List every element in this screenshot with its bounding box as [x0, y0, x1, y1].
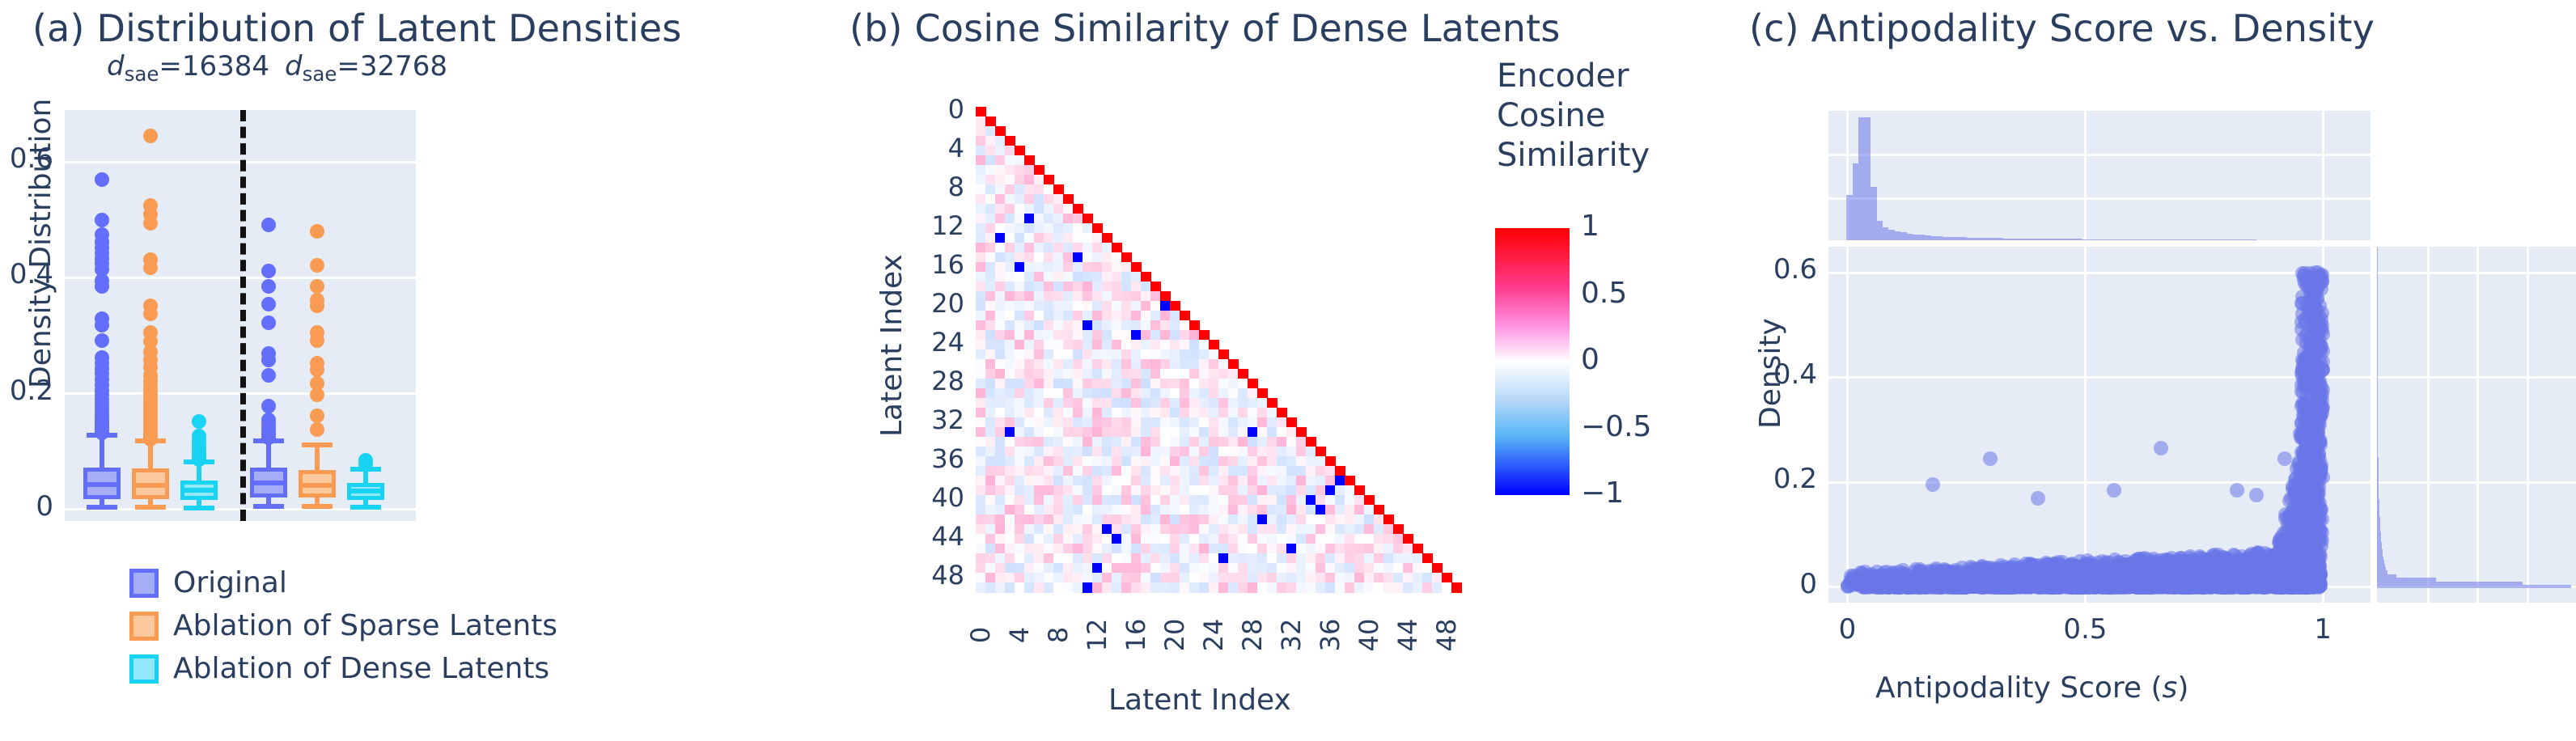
heatmap-cell	[1209, 534, 1219, 544]
heatmap-cell	[1015, 427, 1025, 438]
heatmap-cell	[1432, 573, 1443, 583]
histogram-bar	[2202, 239, 2208, 240]
heatmap-cell	[1277, 514, 1287, 525]
heatmap-cell	[976, 476, 986, 486]
median-line	[250, 481, 287, 485]
heatmap-cell	[1024, 582, 1035, 593]
heatmap-cell	[1238, 427, 1248, 438]
heatmap-cell	[1180, 340, 1190, 350]
heatmap-cell	[1102, 485, 1112, 496]
heatmap-cell	[1015, 194, 1025, 205]
heatmap-cell	[976, 359, 986, 370]
heatmap-cell	[1112, 544, 1122, 554]
panel-b: (b) Cosine Similarity of Dense Latents L…	[858, 0, 1739, 741]
heatmap-cell	[1121, 282, 1132, 292]
heatmap-cell	[1228, 563, 1239, 574]
heatmap-cell	[1141, 282, 1151, 292]
heatmap-cell	[1073, 408, 1083, 418]
heatmap-cell	[1238, 582, 1248, 593]
heatmap-cell	[985, 243, 996, 253]
heatmap-cell	[1073, 311, 1083, 321]
heatmap-cell	[1053, 553, 1064, 564]
heatmap-cell	[1131, 495, 1142, 506]
heatmap-cell	[1005, 466, 1015, 476]
heatmap-cell	[1218, 495, 1229, 506]
panel-c: (c) Antipodality Score vs. Density Densi…	[1739, 0, 2576, 741]
heatmap-cell	[1238, 398, 1248, 409]
heatmap-cell	[1063, 379, 1074, 389]
heatmap-cell	[985, 194, 996, 205]
heatmap-cell	[1053, 340, 1064, 350]
colorbar-title: EncoderCosineSimilarity	[1497, 57, 1650, 175]
heatmap-cell	[995, 534, 1006, 544]
heatmap-cell	[1180, 427, 1190, 438]
outlier-point	[95, 333, 109, 348]
heatmap-cell	[1335, 524, 1345, 535]
heatmap-cell	[1316, 553, 1326, 564]
heatmap-cell	[1141, 476, 1151, 486]
heatmap-cell	[1209, 379, 1219, 389]
heatmap-cell	[985, 563, 996, 574]
heatmap-cell	[1277, 456, 1287, 467]
heatmap-cell	[1131, 340, 1142, 350]
heatmap-cell	[1325, 466, 1336, 476]
heatmap-cell	[1238, 476, 1248, 486]
heatmap-cell	[1063, 311, 1074, 321]
heatmap-cell	[1189, 427, 1200, 438]
heatmap-cell	[1053, 262, 1064, 273]
heatmap-cell	[1199, 447, 1210, 457]
heatmap-cell	[1228, 456, 1239, 467]
heatmap-cell	[1189, 359, 1200, 370]
heatmap-cell	[1063, 272, 1074, 282]
heatmap-cell	[995, 349, 1006, 360]
heatmap-cell	[1024, 408, 1035, 418]
heatmap-cell	[1063, 427, 1074, 438]
heatmap-cell	[1209, 427, 1219, 438]
heatmap-cell	[1063, 544, 1074, 554]
heatmap-cell	[1112, 447, 1122, 457]
heatmap-cell	[1199, 388, 1210, 399]
heatmap-cell	[976, 495, 986, 506]
heatmap-cell	[1306, 573, 1316, 583]
heatmap-cell	[1160, 485, 1171, 496]
heatmap-cell	[976, 233, 986, 243]
heatmap-cell	[1141, 388, 1151, 399]
heatmap-cell	[1092, 252, 1103, 263]
heatmap-cell	[1277, 582, 1287, 593]
heatmap-cell	[1015, 388, 1025, 399]
heatmap-cell	[1102, 417, 1112, 428]
heatmap-cell	[985, 262, 996, 273]
heatmap-cell	[1112, 563, 1122, 574]
heatmap-cell	[1024, 534, 1035, 544]
heatmap-cell	[985, 485, 996, 496]
heatmap-cell	[1005, 301, 1015, 311]
heatmap-cell	[1296, 485, 1307, 496]
heatmap-cell	[1180, 563, 1190, 574]
heatmap-cell	[1228, 495, 1239, 506]
heatmap-cell	[1121, 456, 1132, 467]
heatmap-cell	[1345, 476, 1355, 486]
heatmap-cell	[976, 447, 986, 457]
median-line	[180, 488, 218, 493]
heatmap-cell	[976, 340, 986, 350]
heatmap-cell	[1180, 320, 1190, 331]
heatmap-cell	[1199, 485, 1210, 496]
heatmap-cell	[1257, 495, 1268, 506]
heatmap-cell	[1296, 456, 1307, 467]
heatmap-cell	[1024, 214, 1035, 224]
heatmap-cell	[1277, 563, 1287, 574]
heatmap-cell	[976, 184, 986, 195]
heatmap-cell	[1015, 272, 1025, 282]
heatmap-cell	[1325, 573, 1336, 583]
heatmap-cell	[1228, 437, 1239, 447]
heatmap-cell	[995, 194, 1006, 205]
heatmap-cell	[1092, 398, 1103, 409]
heatmap-cell	[1015, 466, 1025, 476]
heatmap-cell	[1073, 272, 1083, 282]
heatmap-cell	[1199, 398, 1210, 409]
heatmap-cell	[1015, 184, 1025, 195]
colorbar-gradient	[1495, 228, 1570, 495]
heatmap-cell	[1248, 563, 1258, 574]
heatmap-cell	[1044, 582, 1054, 593]
heatmap-cell	[1073, 340, 1083, 350]
heatmap-cell	[1083, 388, 1093, 399]
heatmap-cell	[1015, 146, 1025, 156]
heatmap-cell	[1092, 359, 1103, 370]
outlier-point	[310, 422, 324, 437]
histogram-bar	[1961, 237, 1967, 240]
heatmap-cell	[976, 252, 986, 263]
heatmap-cell	[985, 165, 996, 176]
heatmap-cell	[1092, 311, 1103, 321]
heatmap-cell	[1112, 291, 1122, 302]
xtick-label: 40	[1354, 619, 1384, 652]
heatmap-cell	[1102, 291, 1112, 302]
heatmap-cell	[1005, 553, 1015, 564]
heatmap-cell	[976, 456, 986, 467]
heatmap-cell	[995, 505, 1006, 515]
heatmap-cell	[1121, 417, 1132, 428]
heatmap-cell	[1063, 204, 1074, 214]
heatmap-cell	[1131, 544, 1142, 554]
heatmap-cell	[1306, 524, 1316, 535]
heatmap-cell	[1121, 301, 1132, 311]
heatmap-cell	[1024, 495, 1035, 506]
heatmap-cell	[1257, 466, 1268, 476]
heatmap-cell	[995, 514, 1006, 525]
heatmap-cell	[1335, 544, 1345, 554]
heatmap-cell	[1141, 437, 1151, 447]
heatmap-cell	[1170, 495, 1180, 506]
heatmap-cell	[985, 553, 996, 564]
xtick-label: 4	[1004, 627, 1035, 643]
heatmap-cell	[1228, 476, 1239, 486]
heatmap-cell	[1277, 524, 1287, 535]
gridline-x	[1846, 247, 1849, 603]
heatmap-cell	[1092, 427, 1103, 438]
heatmap-cell	[1170, 437, 1180, 447]
heatmap-cell	[1024, 398, 1035, 409]
histogram-bar	[2196, 239, 2201, 240]
heatmap-cell	[1034, 272, 1044, 282]
heatmap-cell	[1034, 369, 1044, 379]
heatmap-cell	[1180, 359, 1190, 370]
scatter-point	[2073, 578, 2087, 593]
heatmap-cell	[995, 126, 1006, 137]
outlier-point	[95, 213, 109, 227]
heatmap-cell	[1131, 359, 1142, 370]
heatmap-cell	[1160, 369, 1171, 379]
ytick-label: 0.2	[10, 375, 53, 407]
heatmap-cell	[1024, 282, 1035, 292]
heatmap-cell	[1024, 165, 1035, 176]
heatmap-cell	[1160, 349, 1171, 360]
outlier-point	[261, 353, 276, 367]
heatmap-cell	[1024, 262, 1035, 273]
heatmap-cell	[1248, 437, 1258, 447]
heatmap-cell	[1034, 417, 1044, 428]
heatmap-cell	[1160, 417, 1171, 428]
heatmap-cell	[985, 214, 996, 224]
heatmap-cell	[1015, 320, 1025, 331]
heatmap-cell	[1112, 359, 1122, 370]
heatmap-cell	[1364, 582, 1375, 593]
heatmap-cell	[1131, 505, 1142, 515]
heatmap-cell	[1102, 233, 1112, 243]
heatmap-cell	[1345, 563, 1355, 574]
histogram-bar	[1871, 187, 1876, 240]
heatmap-cell	[1248, 573, 1258, 583]
heatmap-cell	[1141, 466, 1151, 476]
heatmap-cell	[1034, 194, 1044, 205]
heatmap-cell	[1345, 553, 1355, 564]
heatmap-cell	[1150, 573, 1161, 583]
heatmap-cell	[1131, 524, 1142, 535]
heatmap-cell	[1257, 476, 1268, 486]
heatmap-cell	[1170, 573, 1180, 583]
heatmap-cell	[1364, 495, 1375, 506]
heatmap-cell	[1063, 194, 1074, 205]
histogram-bar	[1883, 227, 1888, 240]
heatmap-cell	[1024, 243, 1035, 253]
scatter-point	[2211, 555, 2226, 570]
heatmap-cell	[1112, 582, 1122, 593]
heatmap-cell	[1112, 252, 1122, 263]
heatmap-cell	[1180, 476, 1190, 486]
ytick-label: 8	[948, 171, 964, 202]
heatmap-cell	[1063, 301, 1074, 311]
heatmap-cell	[1053, 427, 1064, 438]
heatmap-cell	[1063, 476, 1074, 486]
heatmap-cell	[1296, 524, 1307, 535]
heatmap-cell	[1209, 495, 1219, 506]
histogram-bar	[2082, 239, 2087, 240]
heatmap-cell	[1335, 534, 1345, 544]
heatmap-cell	[1092, 417, 1103, 428]
heatmap-cell	[1092, 282, 1103, 292]
heatmap-cell	[1131, 311, 1142, 321]
colorbar-tick-label: 1	[1581, 210, 1599, 243]
median-line	[347, 489, 384, 493]
heatmap-cell	[1102, 524, 1112, 535]
heatmap-cell	[1160, 437, 1171, 447]
heatmap-cell	[1170, 388, 1180, 399]
heatmap-cell	[1199, 330, 1210, 341]
heatmap-cell	[1034, 204, 1044, 214]
heatmap-cell	[1403, 582, 1413, 593]
heatmap-cell	[976, 408, 986, 418]
outlier-point	[143, 216, 158, 231]
heatmap-cell	[1073, 330, 1083, 341]
xtick-label: 28	[1237, 619, 1268, 652]
heatmap-cell	[1238, 553, 1248, 564]
outlier-point	[95, 172, 109, 187]
heatmap-cell	[1034, 544, 1044, 554]
heatmap-cell	[1034, 301, 1044, 311]
heatmap-cell	[1034, 252, 1044, 263]
heatmap-cell	[1092, 388, 1103, 399]
heatmap-cell	[1073, 291, 1083, 302]
heatmap-cell	[976, 427, 986, 438]
colorbar-tick-label: 0.5	[1581, 277, 1627, 310]
heatmap-cell	[976, 582, 986, 593]
xtick-label: 24	[1198, 619, 1229, 652]
heatmap-cell	[1053, 437, 1064, 447]
heatmap-cell	[995, 398, 1006, 409]
heatmap-cell	[1092, 524, 1103, 535]
heatmap-cell	[1257, 485, 1268, 496]
heatmap-cell	[1160, 398, 1171, 409]
heatmap-cell	[1102, 573, 1112, 583]
heatmap-cell	[1053, 534, 1064, 544]
heatmap-cell	[1005, 524, 1015, 535]
heatmap-cell	[1015, 573, 1025, 583]
heatmap-cell	[1306, 582, 1316, 593]
heatmap-cell	[1170, 340, 1180, 350]
xtick-label: 12	[1082, 619, 1112, 652]
heatmap-cell	[1209, 447, 1219, 457]
heatmap-cell	[1277, 553, 1287, 564]
heatmap-cell	[1073, 262, 1083, 273]
heatmap-cell	[1053, 514, 1064, 525]
heatmap-cell	[1121, 311, 1132, 321]
heatmap-cell	[1354, 573, 1365, 583]
heatmap-cell	[1150, 311, 1161, 321]
heatmap-cell	[1102, 369, 1112, 379]
heatmap-cell	[1102, 388, 1112, 399]
heatmap-cell	[1286, 514, 1297, 525]
heatmap-cell	[1063, 524, 1074, 535]
heatmap-cell	[1306, 437, 1316, 447]
heatmap-cell	[1383, 534, 1394, 544]
heatmap-cell	[976, 437, 986, 447]
heatmap-cell	[976, 194, 986, 205]
heatmap-cell	[1034, 447, 1044, 457]
heatmap-cell	[976, 165, 986, 176]
heatmap-cell	[985, 233, 996, 243]
heatmap-cell	[1199, 505, 1210, 515]
heatmap-cell	[1073, 417, 1083, 428]
heatmap-cell	[1024, 340, 1035, 350]
histogram-bar	[2184, 239, 2189, 240]
heatmap-cell	[1286, 417, 1297, 428]
whisker-cap-lower	[87, 505, 118, 510]
heatmap-cell	[1063, 320, 1074, 331]
heatmap-cell	[1005, 359, 1015, 370]
legend-item-2: Ablation of Dense Latents	[129, 652, 557, 685]
ytick-label: 4	[948, 133, 964, 163]
heatmap-cell	[1005, 214, 1015, 224]
heatmap-cell	[1150, 505, 1161, 515]
heatmap-cell	[1150, 340, 1161, 350]
heatmap-cell	[1112, 388, 1122, 399]
heatmap-cell	[1306, 534, 1316, 544]
heatmap-cell	[1180, 485, 1190, 496]
group-label-32768-value: =32768	[337, 50, 447, 83]
legend-label: Original	[173, 566, 287, 599]
heatmap-cell	[985, 505, 996, 515]
heatmap-cell	[1034, 282, 1044, 292]
heatmap-cell	[1034, 534, 1044, 544]
heatmap-cell	[1383, 524, 1394, 535]
heatmap-cell	[1257, 514, 1268, 525]
heatmap-cell	[1248, 544, 1258, 554]
heatmap-cell	[1073, 359, 1083, 370]
heatmap-cell	[1083, 534, 1093, 544]
heatmap-cell	[1228, 553, 1239, 564]
heatmap-cell	[1141, 369, 1151, 379]
heatmap-cell	[1102, 379, 1112, 389]
heatmap-cell	[1354, 485, 1365, 496]
heatmap-cell	[1102, 359, 1112, 370]
heatmap-cell	[1257, 447, 1268, 457]
heatmap-cell	[1034, 223, 1044, 234]
heatmap-cell	[1160, 301, 1171, 311]
heatmap-cell	[1267, 408, 1277, 418]
heatmap-cell	[1189, 320, 1200, 331]
heatmap-cell	[1015, 369, 1025, 379]
heatmap-cell	[1286, 553, 1297, 564]
heatmap-cell	[1248, 388, 1258, 399]
heatmap-cell	[985, 252, 996, 263]
heatmap-cell	[1160, 582, 1171, 593]
heatmap-cell	[1209, 544, 1219, 554]
heatmap-cell	[1063, 437, 1074, 447]
heatmap-cell	[1092, 408, 1103, 418]
heatmap-cell	[1121, 369, 1132, 379]
scatter-point	[2155, 575, 2170, 590]
heatmap-cell	[1354, 514, 1365, 525]
heatmap-cell	[1112, 408, 1122, 418]
heatmap-cell	[1063, 485, 1074, 496]
heatmap-cell	[1112, 476, 1122, 486]
heatmap-cell	[976, 563, 986, 574]
heatmap-cell	[1209, 369, 1219, 379]
heatmap-cell	[1063, 417, 1074, 428]
heatmap-cell	[1306, 563, 1316, 574]
heatmap-cell	[1141, 379, 1151, 389]
heatmap-cell	[1180, 408, 1190, 418]
heatmap-cell	[1209, 388, 1219, 399]
heatmap-cell	[1170, 466, 1180, 476]
histogram-bar	[2099, 239, 2105, 240]
histogram-bar	[1931, 236, 1937, 240]
heatmap-cell	[1092, 437, 1103, 447]
